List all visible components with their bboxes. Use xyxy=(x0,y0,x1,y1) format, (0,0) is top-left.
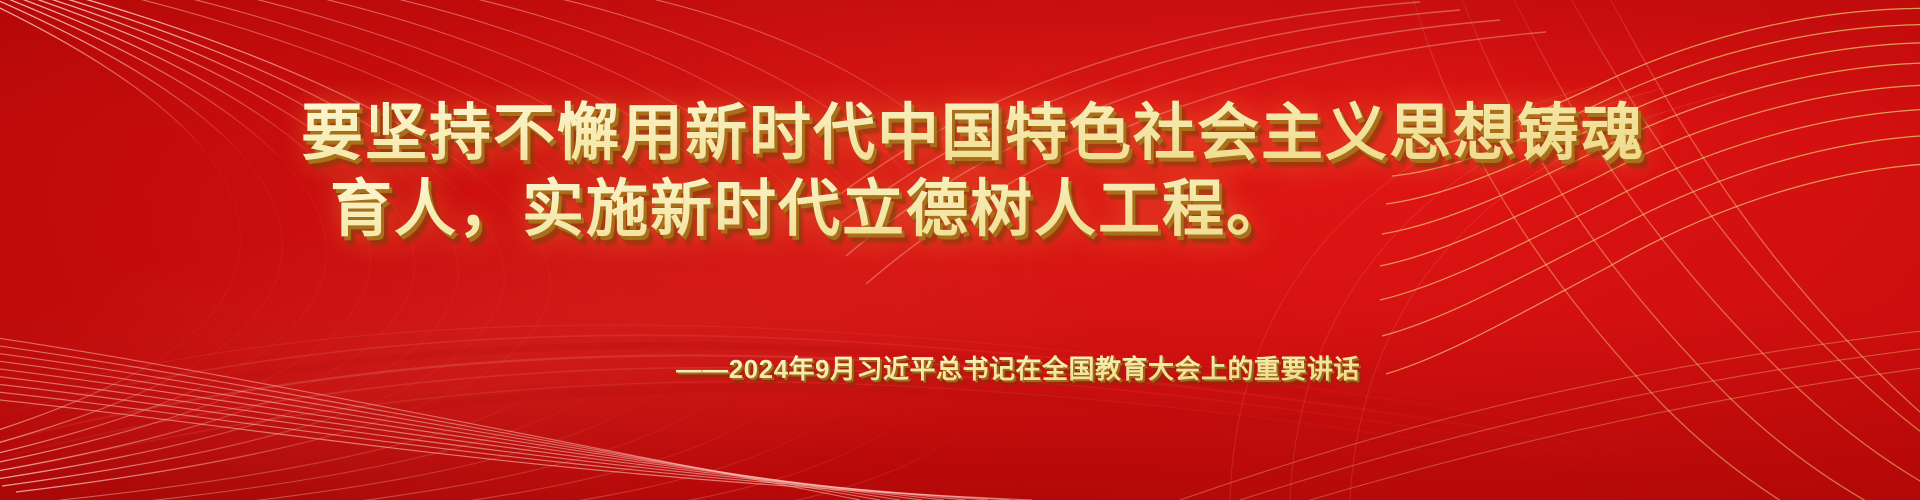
attribution-text: ——2024年9月习近平总书记在全国教育大会上的重要讲话 xyxy=(676,352,1360,386)
propaganda-banner: 要坚持不懈用新时代中国特色社会主义思想铸魂 育人，实施新时代立德树人工程。 ——… xyxy=(0,0,1920,500)
quote-line-2: 育人，实施新时代立德树人工程。 xyxy=(0,172,1920,248)
quote-line-1: 要坚持不懈用新时代中国特色社会主义思想铸魂 xyxy=(0,96,1920,172)
banner-content: 要坚持不懈用新时代中国特色社会主义思想铸魂 育人，实施新时代立德树人工程。 ——… xyxy=(0,0,1920,500)
quote-block: 要坚持不懈用新时代中国特色社会主义思想铸魂 育人，实施新时代立德树人工程。 xyxy=(0,96,1920,248)
